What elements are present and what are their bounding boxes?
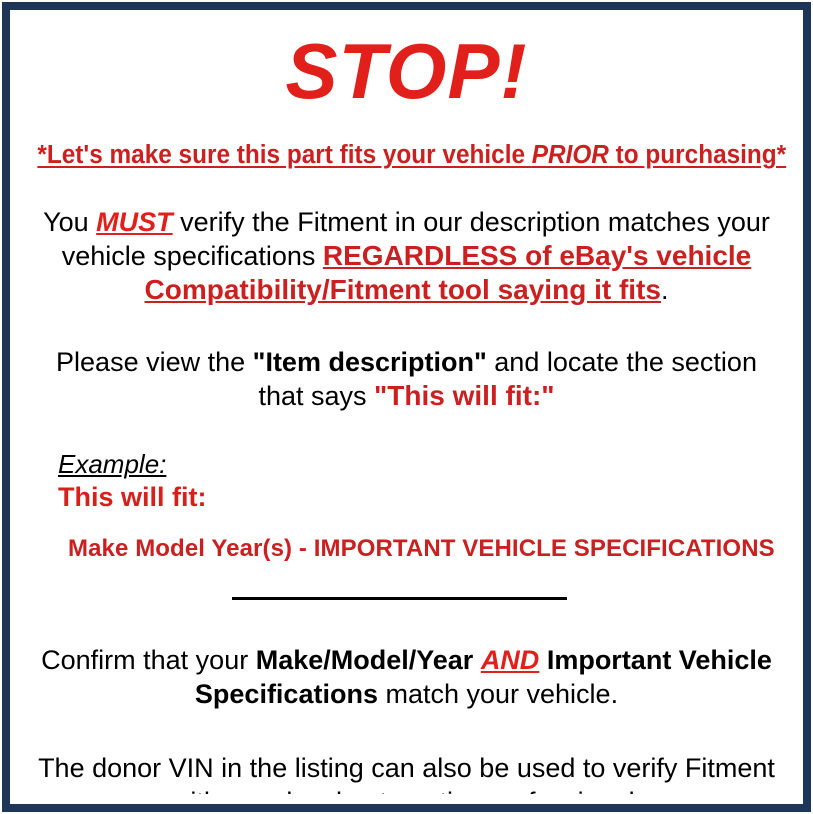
- paragraph-item-description: Please view the "Item description" and l…: [20, 345, 793, 413]
- must-seg1: You: [43, 207, 96, 237]
- example-block: Example: This will fit: Make Model Year(…: [20, 449, 793, 563]
- emphasis-and: AND: [481, 645, 540, 675]
- red-quote-this-will-fit: "This will fit:": [374, 380, 555, 411]
- confirm-seg2: match your vehicle.: [378, 679, 618, 709]
- paragraph-donor-vin: The donor VIN in the listing can also be…: [20, 751, 793, 794]
- subtitle-text-after: to purchasing*: [609, 141, 786, 169]
- subtitle-banner: *Let's make sure this part fits your veh…: [37, 140, 775, 170]
- paragraph-confirm: Confirm that your Make/Model/Year AND Im…: [20, 643, 793, 711]
- example-label: Example:: [58, 449, 793, 479]
- view-seg1: Please view the: [56, 347, 253, 377]
- confirm-seg1: Confirm that your: [41, 645, 256, 675]
- confirm-bold-make-model-year: Make/Model/Year: [256, 645, 481, 675]
- bold-item-description: "Item description": [253, 347, 487, 377]
- notice-content: STOP! *Let's make sure this part fits yo…: [20, 20, 793, 794]
- navy-border-frame: STOP! *Let's make sure this part fits yo…: [2, 2, 811, 812]
- paragraph-must-verify: You MUST verify the Fitment in our descr…: [20, 205, 793, 307]
- subtitle-emphasis-prior: PRIOR: [532, 141, 609, 169]
- page-title: STOP!: [20, 28, 793, 114]
- example-spec-line: Make Model Year(s) - IMPORTANT VEHICLE S…: [58, 535, 793, 563]
- divider-wrapper: [20, 591, 793, 605]
- subtitle-text-before: *Let's make sure this part fits your veh…: [37, 141, 531, 169]
- section-divider: [232, 597, 567, 600]
- example-fit-heading: This will fit:: [58, 481, 793, 513]
- emphasis-must: MUST: [96, 207, 173, 237]
- fitment-notice-page: STOP! *Let's make sure this part fits yo…: [0, 0, 813, 814]
- must-seg3: .: [661, 275, 669, 305]
